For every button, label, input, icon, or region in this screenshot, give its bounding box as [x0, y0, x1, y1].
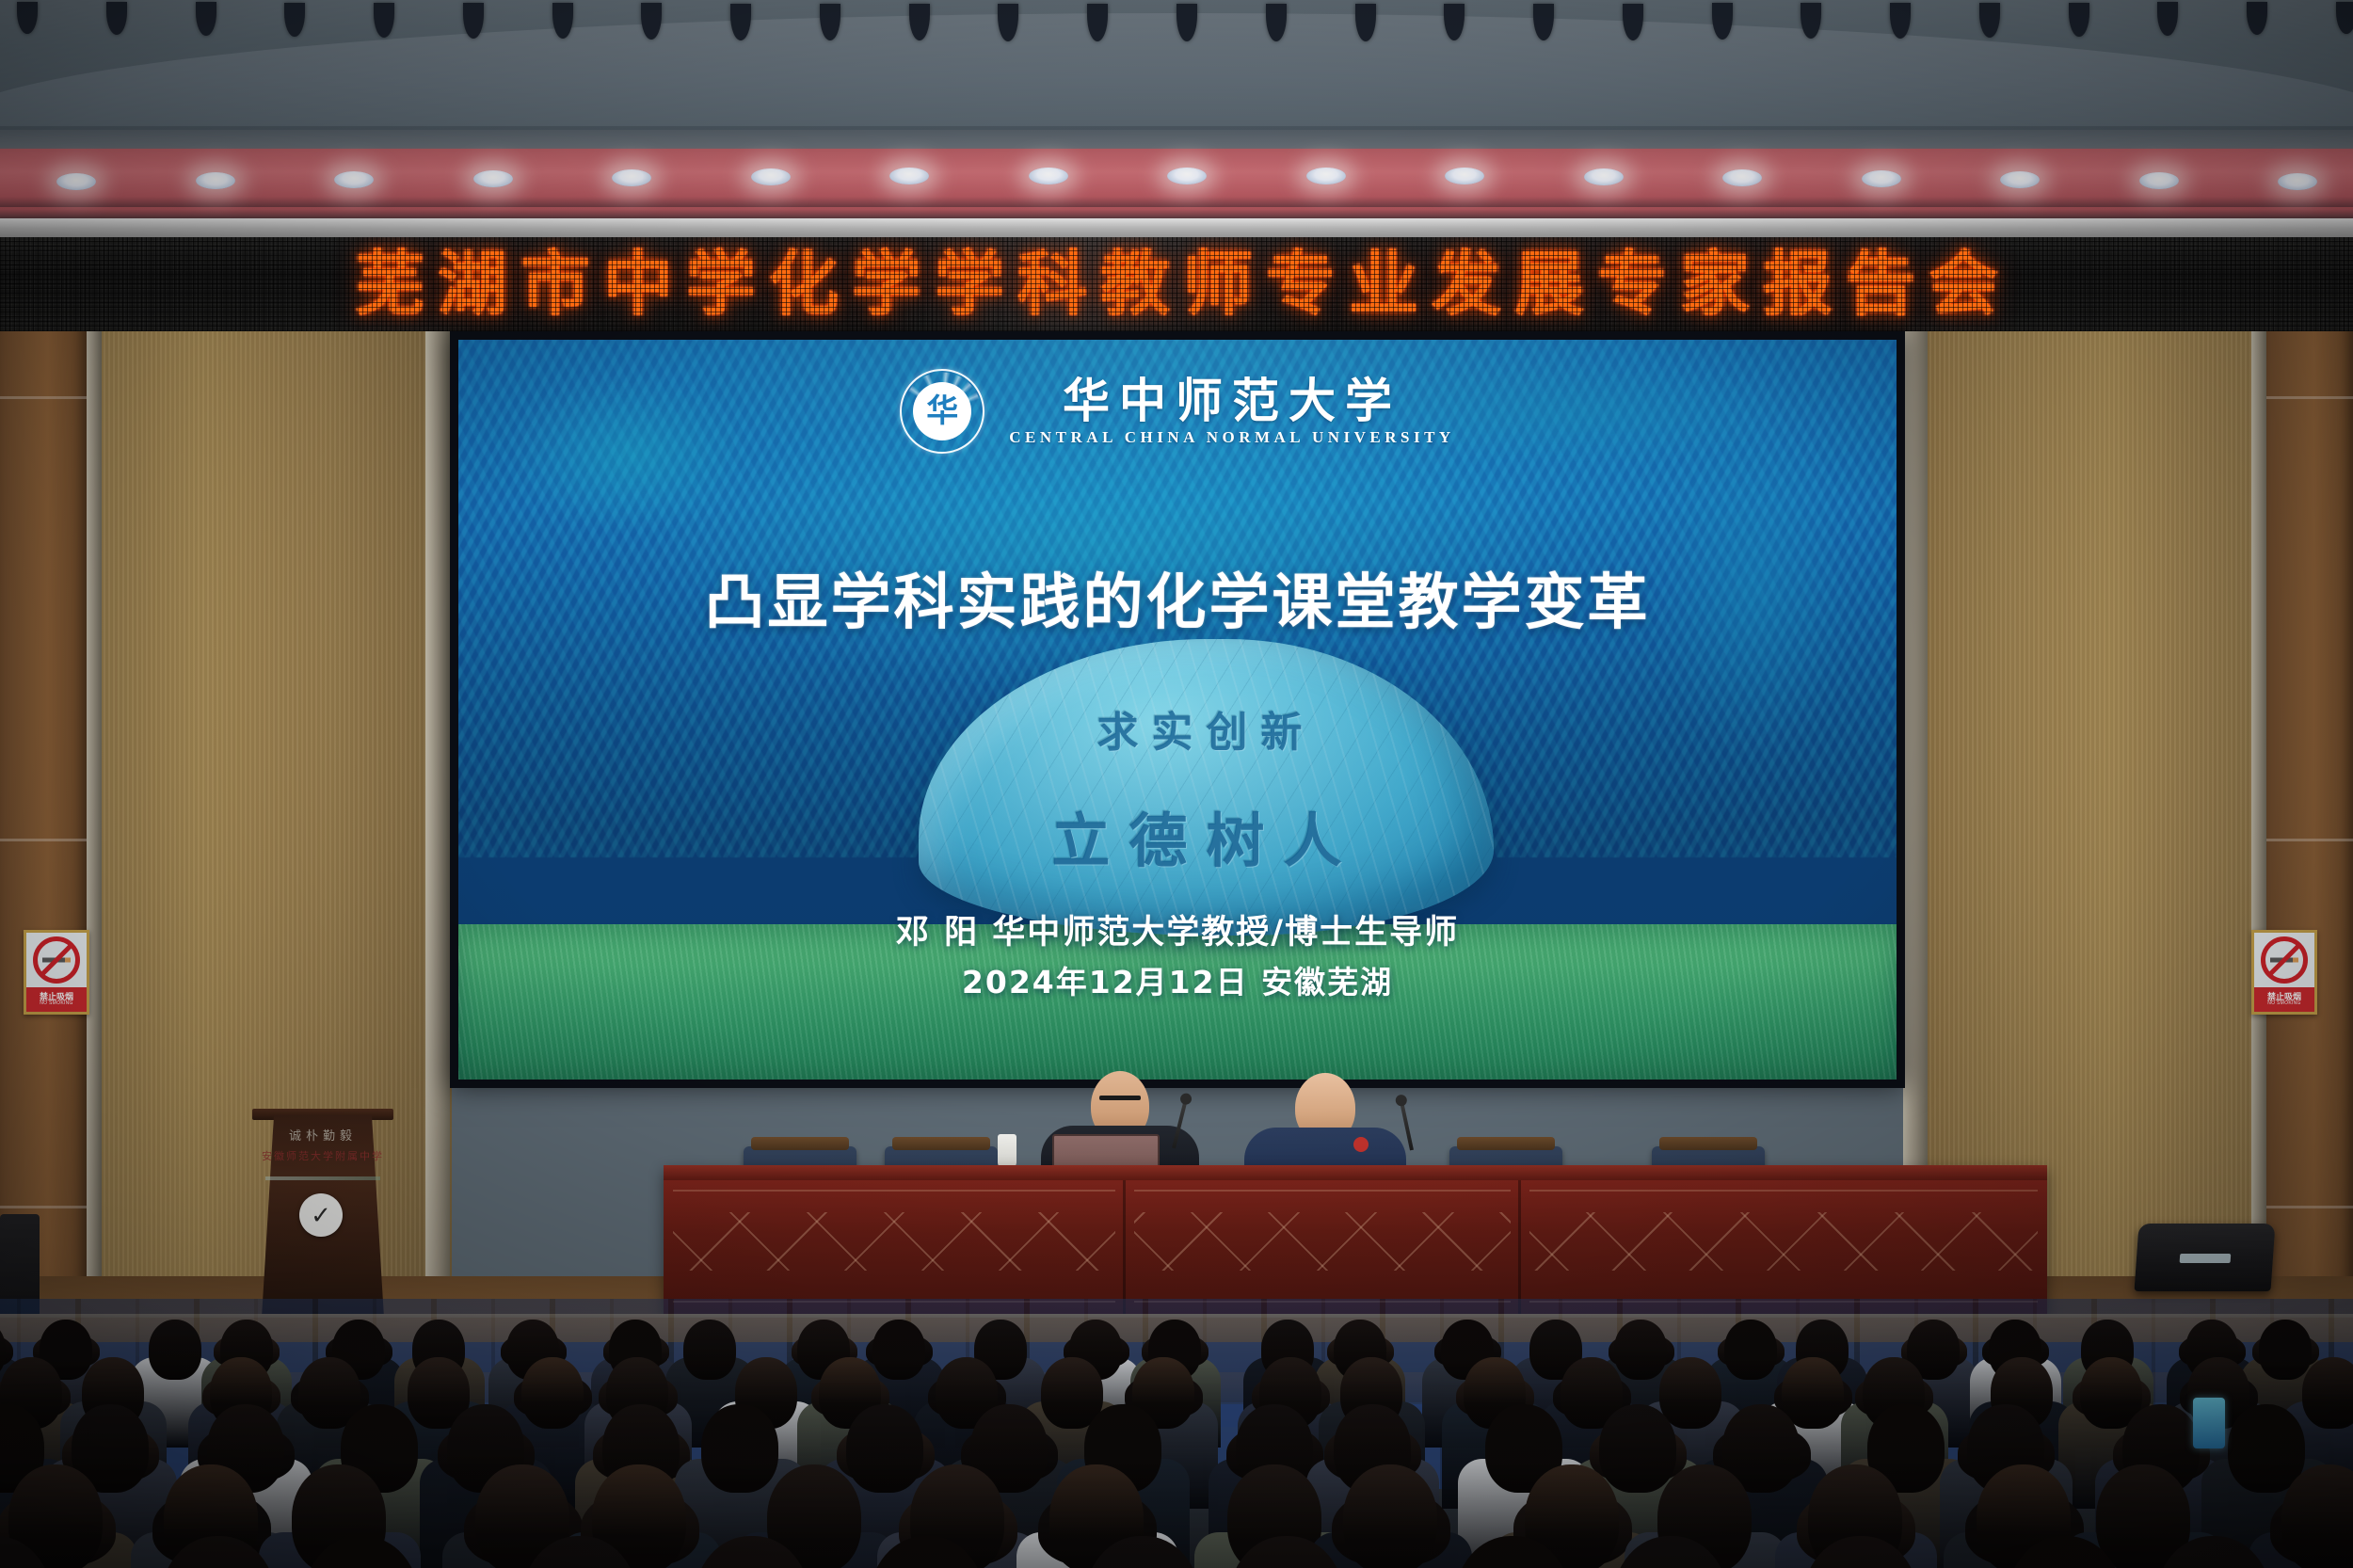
audience-phone — [2193, 1398, 2225, 1448]
audience-member-head — [683, 1320, 736, 1380]
ceiling-cone — [284, 3, 305, 37]
ceiling-cone — [2336, 2, 2353, 34]
table-chevron-pattern — [1529, 1212, 2038, 1271]
pillar-seam — [0, 1206, 87, 1208]
no-smoking-label-en: NO SMOKING — [40, 1001, 73, 1006]
slide-presenter: 邓 阳 华中师范大学教授/博士生导师 — [458, 905, 1897, 953]
ceiling-downlight — [196, 172, 235, 189]
slide-title: 凸显学科实践的化学课堂教学变革 — [458, 554, 1897, 641]
table-chevron-pattern — [1134, 1212, 1511, 1271]
ceiling-downlight — [1584, 168, 1624, 185]
led-banner-text: 芜湖市中学化学学科教师专业发展专家报告会 — [342, 249, 2011, 319]
no-smoking-icon — [26, 933, 87, 987]
ceiling-cone — [998, 4, 1018, 41]
audience-member-head — [149, 1320, 201, 1380]
ceiling-cone — [1979, 3, 2000, 38]
projection-screen[interactable]: 求实创新 立德树人 华 华中师范大学 CENTRAL CHINA NORMAL … — [458, 340, 1897, 1080]
pillar-seam — [0, 839, 87, 841]
wall-column-strip-right — [2251, 222, 2266, 1333]
audience-member-head — [872, 1320, 925, 1380]
ceiling-downlight — [1306, 168, 1346, 184]
ceiling-downlight — [2278, 173, 2317, 190]
led-banner: 芜湖市中学化学学科教师专业发展专家报告会 — [0, 237, 2353, 331]
ceiling-cone — [1712, 3, 1733, 39]
ceiling-downlight — [1862, 170, 1901, 187]
podium-text-line2: 安徽师范大学附属中学 — [262, 1148, 384, 1163]
emblem-glyph: 华 — [902, 371, 983, 452]
ceiling-cone — [1533, 4, 1554, 40]
ceiling-downlight — [1167, 168, 1207, 184]
audience-member-head — [1343, 1464, 1437, 1568]
university-logo: 华 华中师范大学 CENTRAL CHINA NORMAL UNIVERSITY — [458, 369, 1897, 454]
table-top-edge — [664, 1165, 2047, 1180]
ceiling-cone — [1355, 4, 1376, 41]
projection-screen-bezel: 求实创新 立德树人 华 华中师范大学 CENTRAL CHINA NORMAL … — [450, 331, 1905, 1088]
pillar-left — [0, 222, 87, 1333]
water-cup — [998, 1134, 1016, 1168]
audience-member-head — [1599, 1404, 1676, 1493]
pillar-seam — [2266, 1206, 2353, 1208]
table-chevron-pattern — [673, 1212, 1115, 1271]
auditorium-scene: 禁止吸烟 NO SMOKING 禁止吸烟 NO SMOKING 芜湖市中学化学学… — [0, 0, 2353, 1568]
pillar-seam — [0, 396, 87, 399]
ceiling-cone — [909, 4, 930, 41]
ceiling-cone — [374, 3, 394, 38]
audience-member-head — [2302, 1357, 2353, 1429]
table-seam — [1123, 1180, 1126, 1316]
ceiling — [0, 0, 2353, 143]
podium-text-line1: 诚朴勤毅 — [262, 1126, 384, 1144]
pillar-right — [2266, 222, 2353, 1333]
ceiling-cone — [1266, 4, 1287, 41]
wall-column-strip-left — [87, 222, 102, 1333]
ceiling-cone — [17, 2, 38, 34]
ceiling-cone — [552, 3, 573, 39]
no-smoking-sign-right: 禁止吸烟 NO SMOKING — [2251, 930, 2317, 1015]
stage-monitor-speaker — [2134, 1224, 2275, 1291]
slide-date-location: 2024年12月12日 安徽芜湖 — [458, 957, 1897, 1002]
table-panel — [673, 1190, 1115, 1303]
podium-emblem-glyph: ✓ — [311, 1203, 331, 1227]
ceiling-downlight — [612, 169, 651, 186]
ceiling-cone — [2247, 2, 2267, 35]
ceiling-cone — [106, 2, 127, 35]
ceiling-cone — [1890, 3, 1911, 38]
university-name-cn: 华中师范大学 — [1063, 376, 1401, 426]
university-emblem-icon: 华 — [900, 369, 984, 454]
ceiling-cone — [2069, 3, 2089, 37]
speaker-brand-plate — [2179, 1254, 2231, 1263]
no-smoking-sign-left: 禁止吸烟 NO SMOKING — [24, 930, 89, 1015]
ceiling-downlight — [473, 170, 513, 187]
stone-inscription-line2: 立德树人 — [919, 793, 1494, 878]
ceiling-cone — [2157, 2, 2178, 35]
audience-member-head — [1659, 1357, 1721, 1429]
audience-member-head — [2259, 1320, 2312, 1380]
stage-conference-table — [664, 1165, 2047, 1316]
lapel-pin — [1353, 1137, 1369, 1152]
ceiling-acoustic-cones — [0, 0, 2353, 43]
no-smoking-icon — [2254, 933, 2314, 987]
no-smoking-label: 禁止吸烟 NO SMOKING — [26, 987, 87, 1012]
university-name-block: 华中师范大学 CENTRAL CHINA NORMAL UNIVERSITY — [1009, 376, 1454, 447]
audience-member-head — [846, 1404, 923, 1493]
ceiling-cone — [730, 4, 751, 40]
ceiling-cone — [1087, 4, 1108, 41]
ceiling-cone — [1623, 4, 1643, 40]
ceiling-downlight — [2000, 171, 2040, 188]
ceiling-downlight — [2139, 172, 2179, 189]
ceiling-cone — [641, 3, 662, 39]
eyeglasses — [1099, 1096, 1141, 1100]
ceiling-cone — [820, 4, 840, 40]
audience-member-head — [521, 1357, 584, 1429]
podium-emblem-icon: ✓ — [299, 1193, 343, 1237]
ceiling-cone — [1444, 4, 1465, 41]
ceiling-cone — [1176, 4, 1197, 41]
stone-inscription-line1: 求实创新 — [919, 698, 1494, 759]
no-smoking-label: 禁止吸烟 NO SMOKING — [2254, 987, 2314, 1012]
no-smoking-label-en: NO SMOKING — [2267, 1001, 2301, 1006]
audience-area — [0, 1299, 2353, 1568]
audience-member-head — [1724, 1320, 1777, 1380]
ceiling-cone — [463, 3, 484, 38]
ceiling-downlight — [1722, 169, 1762, 186]
audience-member-head — [1782, 1357, 1844, 1429]
ceiling-downlight — [1029, 168, 1068, 184]
university-name-en: CENTRAL CHINA NORMAL UNIVERSITY — [1009, 428, 1454, 447]
pillar-seam — [2266, 839, 2353, 841]
ceiling-cone — [196, 2, 216, 35]
table-panel — [1134, 1190, 1511, 1303]
ceiling-downlight — [751, 168, 791, 185]
ceiling-downlight — [56, 173, 96, 190]
ceiling-downlight — [334, 171, 374, 188]
table-panel — [1529, 1190, 2038, 1303]
table-seam — [1518, 1180, 1521, 1316]
pillar-seam — [2266, 396, 2353, 399]
podium-band — [265, 1176, 380, 1180]
screen-frame-strip-left — [425, 222, 450, 1333]
audience-member-head — [1614, 1320, 1667, 1380]
ceiling-cone — [1801, 3, 1821, 39]
audience-member-head — [701, 1404, 778, 1493]
